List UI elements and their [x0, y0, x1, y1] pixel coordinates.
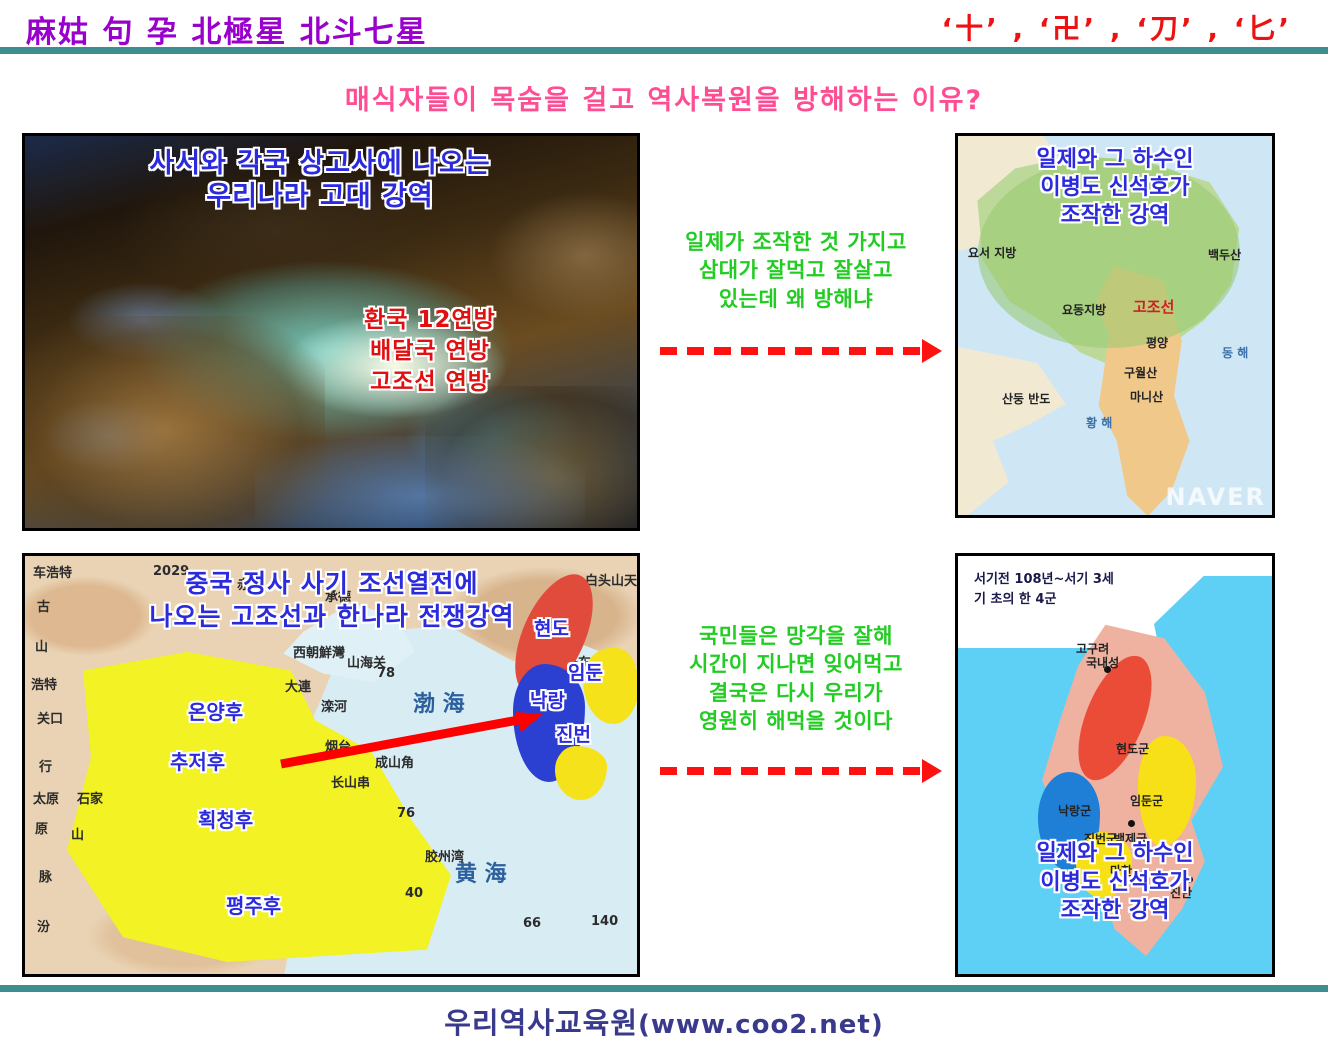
slide-subtitle: 매식자들이 목숨을 걸고 역사복원을 방해하는 이유? [0, 78, 1328, 117]
map-label-yoseo: 요서 지방 [968, 244, 1016, 261]
map-label-guwolsan: 구월산 [1124, 364, 1157, 381]
naver-watermark: NAVER [1166, 483, 1266, 511]
map-label-shandong: 산둥 반도 [1002, 390, 1050, 407]
map-label-imdun-gun: 임둔군 [1130, 792, 1163, 809]
page-header: 麻姑 句 孕 北極星 北斗七星 ‘十’ , ‘卍’ , ‘刀’ , ‘匕’ [0, 0, 1328, 54]
map-label-jinhan: 진한 [1170, 884, 1192, 901]
gojoseon-map-shandong-peninsula [955, 346, 1084, 516]
arrow-dashed-line [660, 767, 924, 775]
arrow-head-icon [922, 339, 942, 363]
world-map-panel [22, 133, 640, 531]
map-label-jinbeon-gun: 진번군 [1084, 830, 1117, 847]
map-label-hyeondo-gun: 현도군 [1116, 740, 1149, 757]
gojoseon-map-territory-halo [978, 158, 1240, 348]
footer-url: (www.coo2.net) [638, 1010, 884, 1040]
gojoseon-map-panel: 요서 지방 요동지방 고조선 백두산 평양 구월산 마니산 산둥 반도 황 해 … [955, 133, 1275, 518]
arrow-dashed-line [660, 347, 924, 355]
map-label-baekdusan: 백두산 [1208, 246, 1241, 263]
note-bottom: 국민들은 망각을 잘해 시간이 지나면 잊어먹고 결국은 다시 우리가 영원히 … [652, 622, 940, 735]
arrow-top [660, 340, 942, 362]
footer-credit: 우리역사교육원(www.coo2.net) [0, 1000, 1328, 1042]
note-top: 일제가 조작한 것 가지고 삼대가 잘먹고 잘살고 있는데 왜 방해냐 [652, 228, 940, 313]
arrow-bottom [660, 760, 942, 782]
map-label-mahan: 마한 [1110, 862, 1132, 879]
map-label-nakrang-gun: 낙랑군 [1058, 802, 1091, 819]
map-label-yodong: 요동지방 [1062, 301, 1106, 318]
map-label-pyongyang: 평양 [1146, 334, 1168, 351]
header-symbols: ‘十’ , ‘卍’ , ‘刀’ , ‘匕’ [942, 7, 1293, 47]
map-label-yellow-sea: 황 해 [1086, 414, 1112, 431]
map-label-baekje: 백제국 [1114, 830, 1147, 847]
city-dot-baekje [1128, 820, 1135, 827]
atlas-map-panel: 车浩特 古 山 浩特 关口 行 太原 石家 原 山 脉 汾 2029 赤峰 承德… [22, 553, 640, 977]
header-divider [0, 47, 1328, 54]
footer-divider [0, 985, 1328, 992]
page-title: 麻姑 句 孕 北極星 北斗七星 [26, 7, 428, 51]
commanderies-map-header: 서기전 108년~서기 3세 기 초의 한 4군 [974, 570, 1114, 609]
arrow-head-icon [922, 759, 942, 783]
map-label-gungnaeseong: 국내성 [1086, 654, 1119, 671]
map-label-manisan: 마니산 [1130, 388, 1163, 405]
map-label-east-sea: 동 해 [1222, 344, 1248, 361]
world-map-southern-sea [255, 436, 585, 531]
map-label-gojoseon: 고조선 [1133, 296, 1174, 317]
commanderies-map-panel: 서기전 108년~서기 3세 기 초의 한 4군 고구려 국내성 현도군 임둔군… [955, 553, 1275, 977]
footer-org: 우리역사교육원 [444, 1006, 638, 1040]
city-dot-jinhan [1186, 876, 1193, 883]
